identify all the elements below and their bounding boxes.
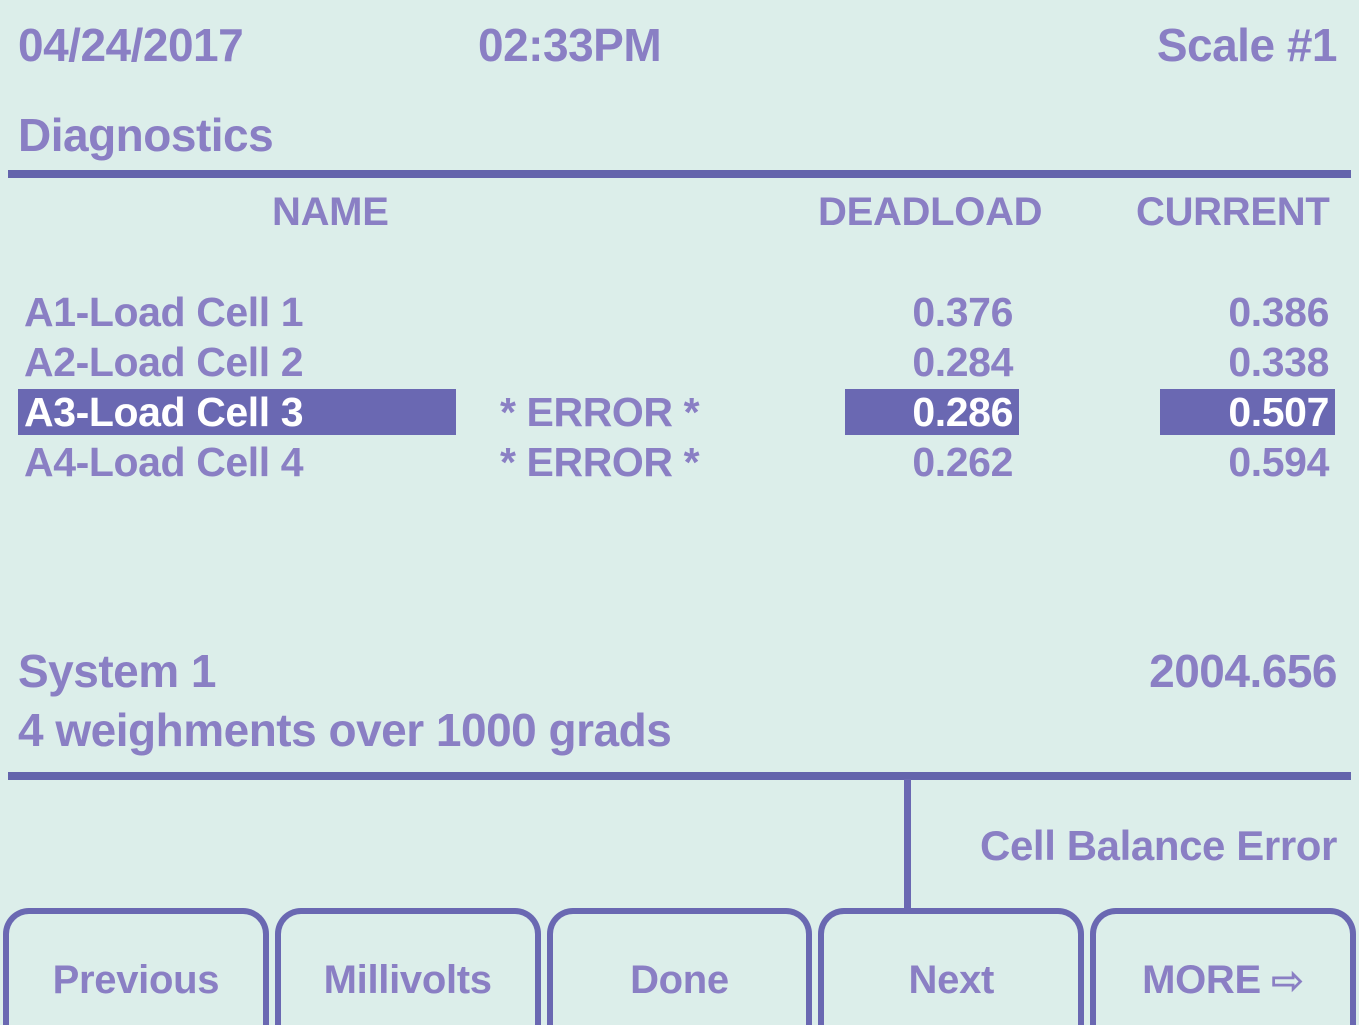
softkey-bar: Previous Millivolts Done Next MORE ⇨ <box>0 908 1359 1025</box>
status-bar: 04/24/2017 02:33PM Scale #1 <box>0 0 1359 90</box>
softkey-label: Done <box>630 958 729 1003</box>
cell-error <box>500 339 730 385</box>
system-weight-value: 2004.656 <box>1149 644 1337 698</box>
cell-current: 0.386 <box>1160 289 1335 335</box>
system-note: 4 weighments over 1000 grads <box>18 703 671 757</box>
softkey-label: Next <box>909 958 995 1003</box>
time-display: 02:33PM <box>478 18 661 72</box>
cell-name: A1-Load Cell 1 <box>18 289 456 335</box>
table-row[interactable]: A4-Load Cell 4 * ERROR * 0.262 0.594 <box>0 439 1359 489</box>
column-header-name: NAME <box>272 190 389 235</box>
millivolts-button[interactable]: Millivolts <box>275 908 541 1025</box>
softkey-label: Previous <box>53 958 220 1003</box>
cell-current: 0.507 <box>1160 389 1335 435</box>
done-button[interactable]: Done <box>547 908 813 1025</box>
cell-name: A3-Load Cell 3 <box>18 389 456 435</box>
message-area-divider <box>904 779 911 911</box>
cell-deadload: 0.284 <box>845 339 1019 385</box>
column-header-current: CURRENT <box>1136 190 1329 235</box>
cell-name: A2-Load Cell 2 <box>18 339 456 385</box>
cell-deadload: 0.286 <box>845 389 1019 435</box>
cell-deadload: 0.262 <box>845 439 1019 485</box>
scale-id-display: Scale #1 <box>1157 18 1337 72</box>
table-row[interactable]: A1-Load Cell 1 0.376 0.386 <box>0 289 1359 339</box>
cell-current: 0.338 <box>1160 339 1335 385</box>
cell-error: * ERROR * <box>500 389 730 435</box>
table-row-selected[interactable]: A3-Load Cell 3 * ERROR * 0.286 0.507 <box>0 389 1359 439</box>
page-title: Diagnostics <box>18 108 273 162</box>
arrow-right-icon: ⇨ <box>1271 961 1304 1001</box>
error-message: Cell Balance Error <box>980 822 1337 870</box>
column-header-deadload: DEADLOAD <box>818 190 1042 235</box>
next-button[interactable]: Next <box>818 908 1084 1025</box>
cell-error: * ERROR * <box>500 439 730 485</box>
previous-button[interactable]: Previous <box>3 908 269 1025</box>
system-name: System 1 <box>18 644 216 698</box>
more-button[interactable]: MORE ⇨ <box>1090 908 1356 1025</box>
cell-current: 0.594 <box>1160 439 1335 485</box>
softkey-label: Millivolts <box>324 958 492 1003</box>
scale-terminal-screen: 04/24/2017 02:33PM Scale #1 Diagnostics … <box>0 0 1359 1025</box>
softkey-label: MORE <box>1142 958 1261 1003</box>
load-cell-table: A1-Load Cell 1 0.376 0.386 A2-Load Cell … <box>0 289 1359 489</box>
cell-error <box>500 289 730 335</box>
table-row[interactable]: A2-Load Cell 2 0.284 0.338 <box>0 339 1359 389</box>
cell-deadload: 0.376 <box>845 289 1019 335</box>
footer-divider <box>8 772 1351 780</box>
title-divider <box>8 170 1351 178</box>
cell-name: A4-Load Cell 4 <box>18 439 456 485</box>
date-display: 04/24/2017 <box>18 18 243 72</box>
